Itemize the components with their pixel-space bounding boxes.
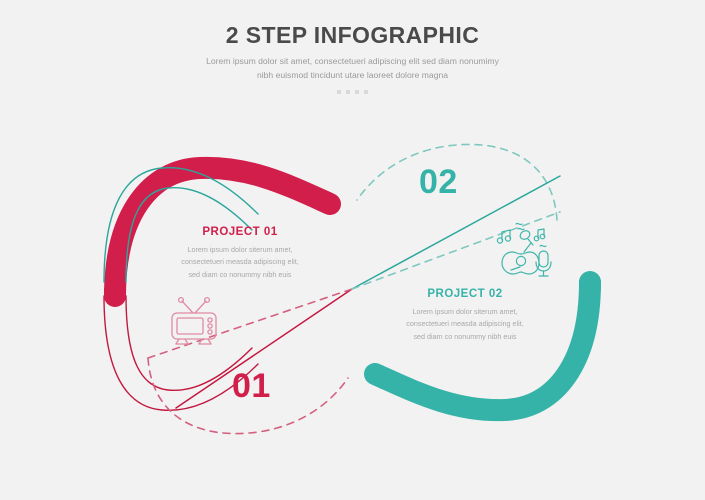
page-title: 2 STEP INFOGRAPHIC — [0, 22, 705, 48]
dot — [355, 90, 359, 94]
step-02-description: Lorem ipsum dolor siterum amet, consecte… — [400, 306, 530, 343]
infographic-canvas: 2 STEP INFOGRAPHIC Lorem ipsum dolor sit… — [0, 0, 705, 500]
step-01-number: 01 — [232, 367, 271, 406]
step-01-title: PROJECT 01 — [175, 226, 305, 238]
red-arc-end-cap — [104, 288, 126, 298]
music-guitar-microphone-icon — [494, 218, 554, 283]
step-block-02: PROJECT 02 Lorem ipsum dolor siterum ame… — [400, 288, 530, 343]
dot — [346, 90, 350, 94]
header: 2 STEP INFOGRAPHIC Lorem ipsum dolor sit… — [0, 22, 705, 94]
step-01-description: Lorem ipsum dolor siterum amet, consecte… — [175, 244, 305, 281]
step-block-01: PROJECT 01 Lorem ipsum dolor siterum ame… — [175, 226, 305, 281]
dot — [337, 90, 341, 94]
dot — [364, 90, 368, 94]
television-icon — [166, 296, 222, 351]
step-02-number: 02 — [419, 163, 458, 202]
step-02-title: PROJECT 02 — [400, 288, 530, 300]
teal-arc-end-cap — [579, 280, 601, 290]
page-subtitle: Lorem ipsum dolor sit amet, consectetuer… — [203, 55, 503, 83]
decorative-dot-row — [0, 90, 705, 94]
